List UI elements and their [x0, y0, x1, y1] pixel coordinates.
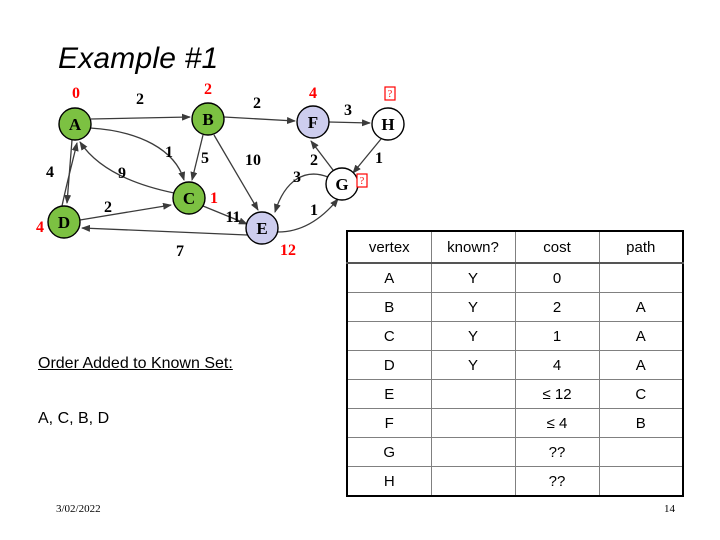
graph-node-h[interactable]: H ?: [372, 87, 404, 140]
column-header-cost: cost: [515, 231, 599, 263]
edge-a-b: [91, 117, 190, 119]
table-row: C Y 1 A: [347, 322, 683, 351]
edge-weight-a-c: 1: [165, 144, 173, 161]
edge-b-e: [214, 135, 258, 210]
cell-cost: 4: [515, 351, 599, 380]
edge-f-h: [329, 122, 370, 123]
table-row: F ≤ 4 B: [347, 409, 683, 438]
cell-known: Y: [431, 322, 515, 351]
graph-node-e[interactable]: E 12: [246, 212, 296, 259]
table-row: H ??: [347, 467, 683, 497]
column-header-known: known?: [431, 231, 515, 263]
cell-known: Y: [431, 293, 515, 322]
dijkstra-table: vertex known? cost path A Y 0 B Y 2 A C …: [346, 230, 684, 497]
edge-d-c: [80, 205, 171, 220]
edge-g-e: [275, 174, 328, 212]
cell-cost: ≤ 4: [515, 409, 599, 438]
node-label-g: G: [335, 175, 348, 194]
cell-cost: ≤ 12: [515, 380, 599, 409]
table-header-row: vertex known? cost path: [347, 231, 683, 263]
order-added-value: A, C, B, D: [38, 410, 109, 428]
node-label-h: H: [381, 115, 394, 134]
cell-vertex: D: [347, 351, 431, 380]
edge-weight-d-a: 9: [118, 165, 126, 182]
order-added-heading: Order Added to Known Set:: [38, 355, 233, 373]
cell-vertex: A: [347, 263, 431, 293]
graph-node-g[interactable]: G ?: [326, 168, 367, 200]
graph-node-b[interactable]: B 2: [192, 81, 224, 135]
node-label-b: B: [202, 110, 213, 129]
cell-vertex: H: [347, 467, 431, 497]
edge-weight-e-g: 1: [310, 202, 318, 219]
cell-path: [599, 467, 683, 497]
table-row: B Y 2 A: [347, 293, 683, 322]
edge-c-a-curve: [80, 142, 174, 193]
cell-vertex: G: [347, 438, 431, 467]
node-label-a: A: [69, 115, 82, 134]
cell-cost: 2: [515, 293, 599, 322]
cell-vertex: C: [347, 322, 431, 351]
cell-known: [431, 380, 515, 409]
column-header-path: path: [599, 231, 683, 263]
footer-page-number: 14: [664, 503, 675, 515]
edge-weight-g-f: 2: [310, 152, 318, 169]
cell-known: [431, 409, 515, 438]
cell-cost: ??: [515, 438, 599, 467]
edge-weight-h-g: 1: [375, 150, 383, 167]
cell-known: Y: [431, 263, 515, 293]
cell-vertex: B: [347, 293, 431, 322]
column-header-vertex: vertex: [347, 231, 431, 263]
table-row: D Y 4 A: [347, 351, 683, 380]
edge-weight-b-c: 5: [201, 150, 209, 167]
edge-b-f: [224, 117, 295, 121]
node-cost-b: 2: [204, 81, 212, 98]
graph-node-a[interactable]: A 0: [59, 85, 91, 140]
node-label-c: C: [183, 189, 195, 208]
edge-e-g: [278, 199, 338, 232]
cell-path: A: [599, 293, 683, 322]
edge-weight-b-f: 2: [253, 95, 261, 112]
edge-e-d: [82, 228, 247, 235]
unknown-marker-g: ?: [360, 176, 365, 187]
footer-date: 3/02/2022: [56, 503, 101, 515]
cell-known: Y: [431, 351, 515, 380]
slide-canvas: Example #1 2 1 4: [0, 0, 720, 540]
cell-path: C: [599, 380, 683, 409]
edge-weight-a-b: 2: [136, 91, 144, 108]
cell-known: [431, 438, 515, 467]
cell-path: [599, 438, 683, 467]
unknown-marker-h: ?: [388, 89, 393, 100]
node-label-e: E: [256, 219, 267, 238]
cell-cost: 0: [515, 263, 599, 293]
cell-cost: ??: [515, 467, 599, 497]
node-cost-d: 4: [36, 219, 44, 236]
table-row: A Y 0: [347, 263, 683, 293]
cell-path: B: [599, 409, 683, 438]
edge-weight-b-e: 10: [245, 152, 261, 169]
cell-path: [599, 263, 683, 293]
cell-vertex: E: [347, 380, 431, 409]
edge-weight-c-e: 11: [225, 209, 240, 226]
table-row: G ??: [347, 438, 683, 467]
edge-weight-f-h: 3: [344, 102, 352, 119]
node-cost-f: 4: [309, 85, 317, 102]
edge-weight-g-e: 3: [293, 169, 301, 186]
graph-node-f[interactable]: F 4: [297, 85, 329, 138]
cell-path: A: [599, 351, 683, 380]
edge-weight-e-d: 7: [176, 243, 184, 260]
cell-vertex: F: [347, 409, 431, 438]
cell-cost: 1: [515, 322, 599, 351]
node-cost-e: 12: [280, 242, 296, 259]
cell-path: A: [599, 322, 683, 351]
graph-node-d[interactable]: D 4: [36, 206, 80, 238]
node-cost-a: 0: [72, 85, 80, 102]
edge-d-a: [62, 143, 77, 206]
edge-weight-a-d: 4: [46, 164, 54, 181]
node-cost-c: 1: [210, 190, 218, 207]
cell-known: [431, 467, 515, 497]
table-row: E ≤ 12 C: [347, 380, 683, 409]
node-label-f: F: [308, 113, 318, 132]
edge-weight-d-c: 2: [104, 199, 112, 216]
node-label-d: D: [58, 213, 70, 232]
